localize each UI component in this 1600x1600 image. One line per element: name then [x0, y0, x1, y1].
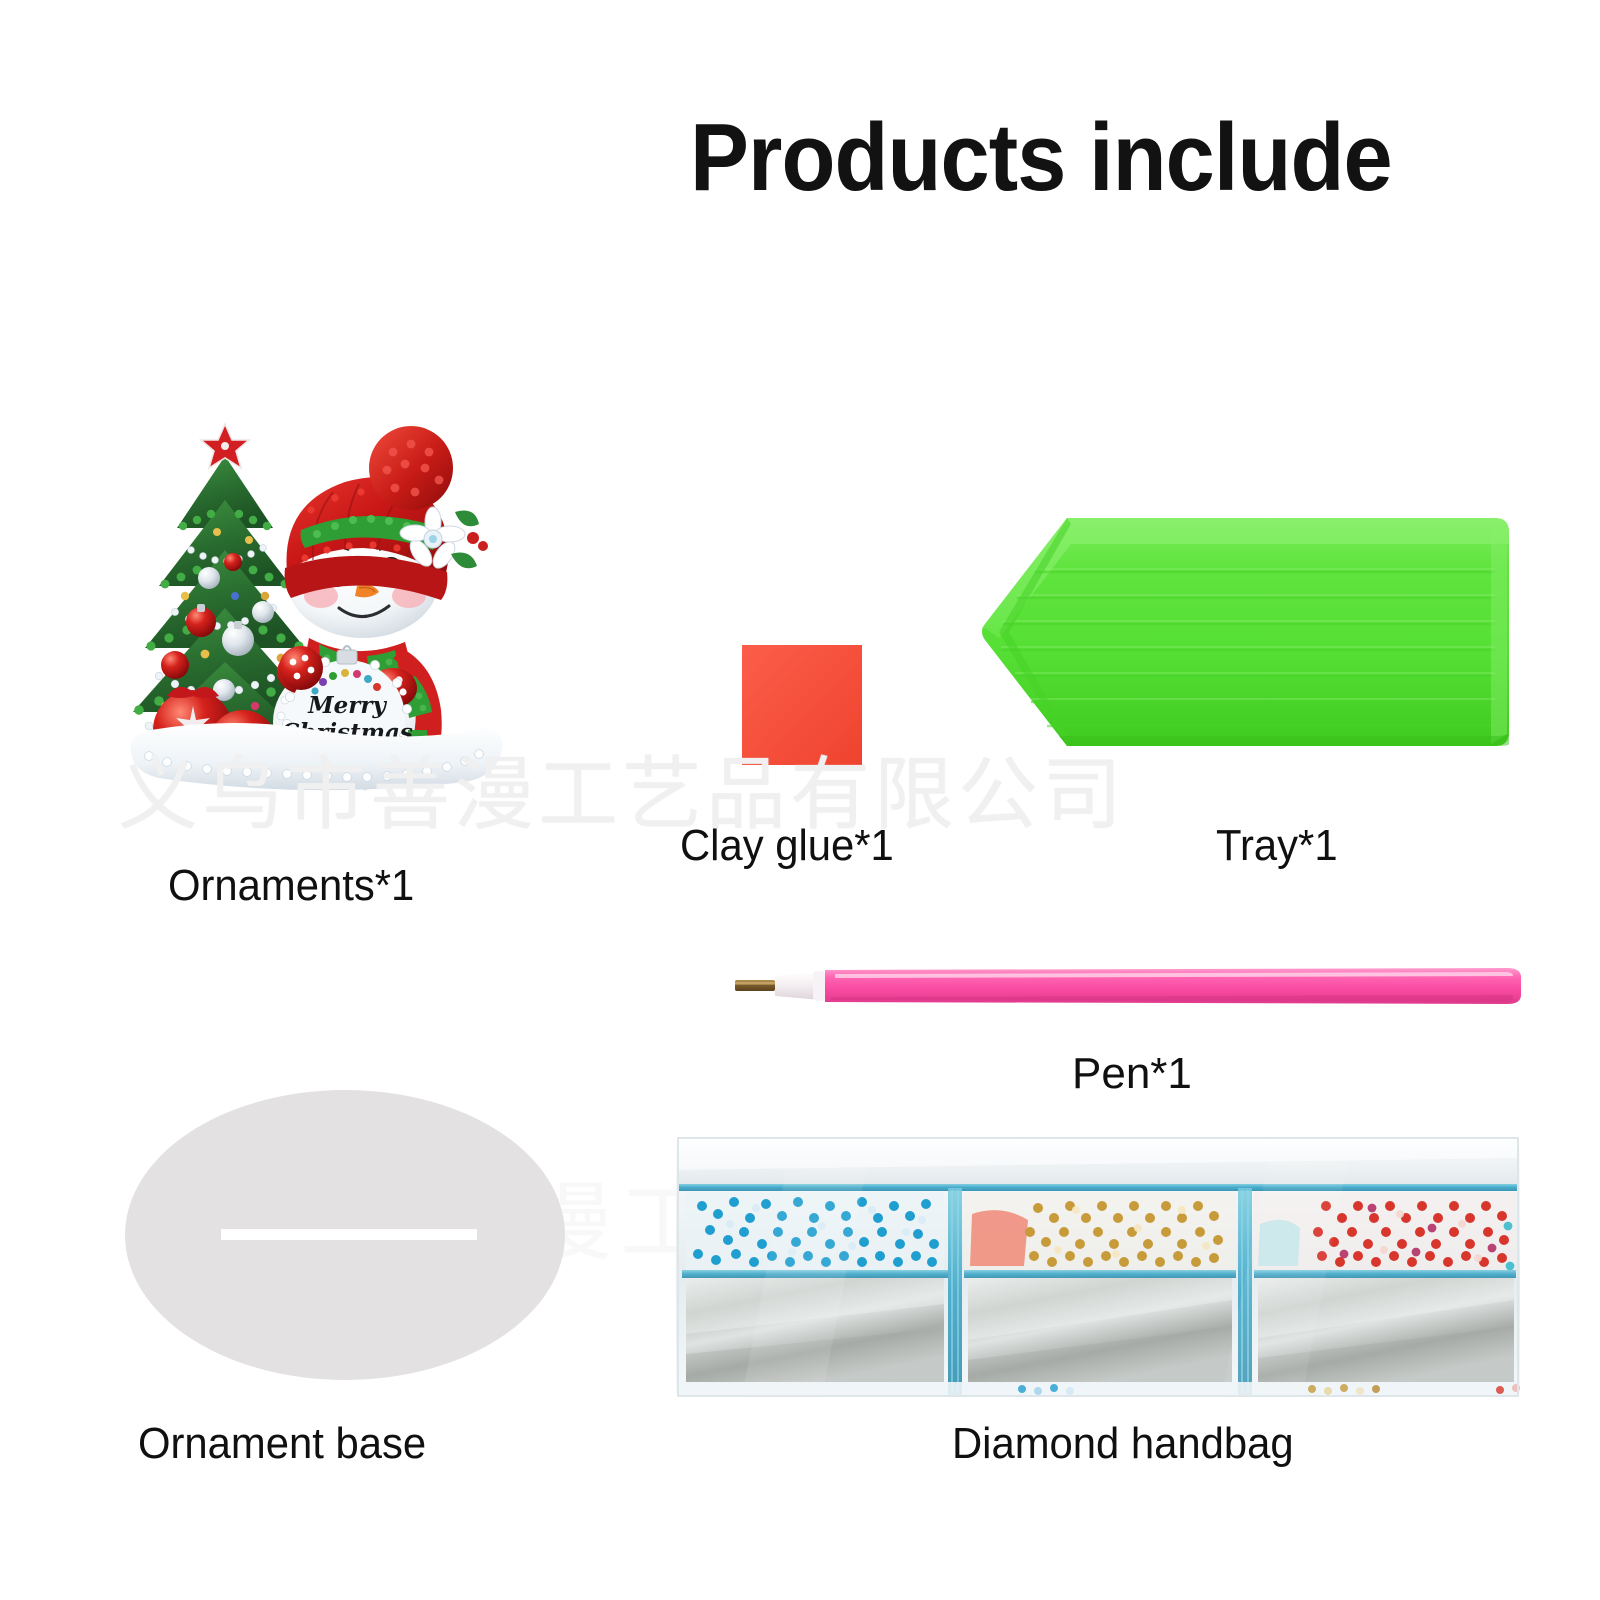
ornaments-product-image: Merry Christmas — [105, 400, 525, 840]
diamond-handbag-label: Diamond handbag — [952, 1418, 1294, 1470]
clay-glue-square-icon — [742, 645, 862, 765]
ornament-base-label: Ornament base — [138, 1418, 426, 1470]
snowman-ornament-icon: Merry Christmas — [105, 400, 525, 840]
page-title: Products include — [690, 108, 1490, 208]
ornaments-label: Ornaments*1 — [168, 860, 414, 912]
rhinestone-zip-bag-icon — [672, 1128, 1524, 1404]
diamond-tray-icon — [975, 500, 1520, 770]
pen-label: Pen*1 — [1072, 1048, 1192, 1100]
base-slot — [221, 1229, 477, 1240]
product-inclusions-infographic: Products include 义乌市善漫工艺品有限公司 — [0, 0, 1600, 1600]
ornament-base-product-image — [125, 1090, 565, 1380]
ornament-text-line1: Merry — [307, 692, 387, 719]
drill-pen-icon — [735, 963, 1525, 1009]
tray-product-image — [975, 500, 1520, 770]
tray-label: Tray*1 — [1216, 820, 1338, 872]
clay-glue-label: Clay glue*1 — [680, 820, 894, 872]
diamond-handbag-product-image — [672, 1128, 1524, 1404]
pen-product-image — [735, 963, 1525, 1009]
